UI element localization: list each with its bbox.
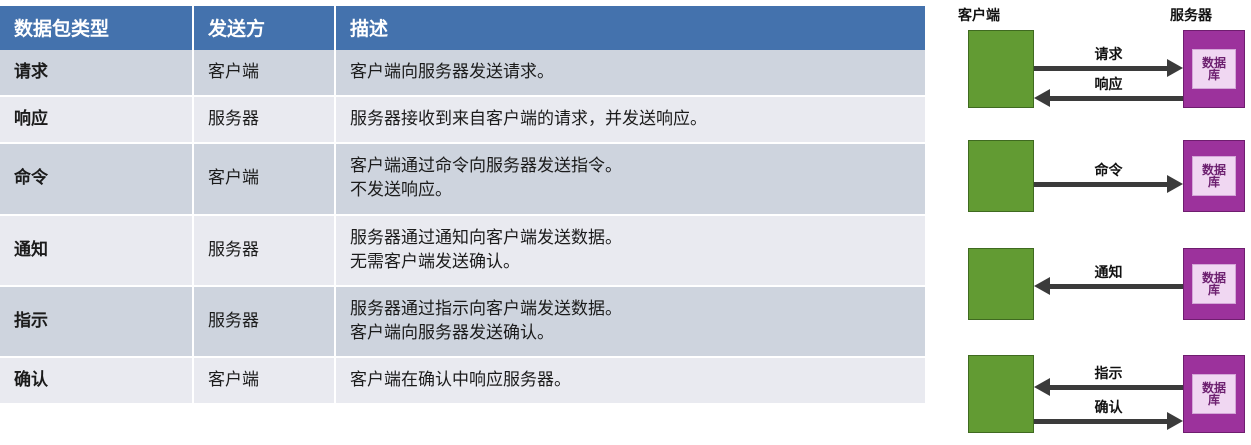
database-chip: 数据库	[1192, 49, 1236, 89]
client-server-diagram: 客户端 服务器 数据库 请求 响应 数据库	[952, 0, 1251, 445]
table-row: 确认 客户端 客户端在确认中响应服务器。	[0, 357, 925, 404]
server-box: 数据库	[1183, 355, 1245, 433]
table-header-row: 数据包类型 发送方 描述	[0, 6, 925, 50]
cell-packet-type: 通知	[0, 215, 193, 286]
table-row: 命令 客户端 客户端通过命令向服务器发送指令。 不发送响应。	[0, 143, 925, 214]
description-line: 不发送响应。	[350, 178, 911, 202]
column-header-sender: 发送方	[193, 6, 335, 50]
description-line: 客户端通过命令向服务器发送指令。	[350, 154, 911, 178]
cell-sender: 客户端	[193, 357, 335, 404]
cell-packet-type: 确认	[0, 357, 193, 404]
server-box: 数据库	[1183, 140, 1245, 212]
table-row: 指示 服务器 服务器通过指示向客户端发送数据。 客户端向服务器发送确认。	[0, 286, 925, 357]
cell-sender: 服务器	[193, 96, 335, 143]
diagram-block-command: 数据库 命令	[952, 140, 1251, 212]
diagram-block-request-response: 数据库 请求 响应	[952, 30, 1251, 108]
database-chip: 数据库	[1192, 374, 1236, 414]
description-line: 客户端向服务器发送确认。	[350, 321, 911, 345]
cell-sender: 服务器	[193, 286, 335, 357]
client-box	[968, 248, 1034, 320]
cell-description: 客户端通过命令向服务器发送指令。 不发送响应。	[335, 143, 925, 214]
page-root: 数据包类型 发送方 描述 请求 客户端 客户端向服务器发送请求。 响应 服务器	[0, 0, 1251, 445]
database-chip: 数据库	[1192, 156, 1236, 196]
diagram-block-indication-confirm: 数据库 指示 确认	[952, 355, 1251, 433]
table-row: 通知 服务器 服务器通过通知向客户端发送数据。 无需客户端发送确认。	[0, 215, 925, 286]
cell-packet-type: 指示	[0, 286, 193, 357]
arrow-label: 通知	[1034, 262, 1183, 282]
diagram-block-notification: 数据库 通知	[952, 248, 1251, 320]
server-box: 数据库	[1183, 30, 1245, 108]
description-line: 无需客户端发送确认。	[350, 250, 911, 274]
table-header: 数据包类型 发送方 描述	[0, 6, 925, 50]
description-line: 服务器通过指示向客户端发送数据。	[350, 297, 911, 321]
table-row: 请求 客户端 客户端向服务器发送请求。	[0, 50, 925, 96]
diagram-client-label: 客户端	[958, 5, 1000, 25]
packet-type-table-container: 数据包类型 发送方 描述 请求 客户端 客户端向服务器发送请求。 响应 服务器	[0, 6, 925, 405]
client-box	[968, 30, 1034, 108]
server-box: 数据库	[1183, 248, 1245, 320]
table-row: 响应 服务器 服务器接收到来自客户端的请求，并发送响应。	[0, 96, 925, 143]
table-body: 请求 客户端 客户端向服务器发送请求。 响应 服务器 服务器接收到来自客户端的请…	[0, 50, 925, 404]
description-line: 服务器通过通知向客户端发送数据。	[350, 226, 911, 250]
arrow-line	[1047, 96, 1183, 101]
cell-description: 服务器通过指示向客户端发送数据。 客户端向服务器发送确认。	[335, 286, 925, 357]
client-box	[968, 355, 1034, 433]
cell-description: 服务器接收到来自客户端的请求，并发送响应。	[335, 96, 925, 143]
cell-packet-type: 响应	[0, 96, 193, 143]
cell-description: 服务器通过通知向客户端发送数据。 无需客户端发送确认。	[335, 215, 925, 286]
database-chip: 数据库	[1192, 264, 1236, 304]
arrow-label: 指示	[1034, 363, 1183, 383]
description-line: 客户端向服务器发送请求。	[350, 60, 911, 84]
arrow-label: 响应	[1034, 74, 1183, 94]
packet-type-table: 数据包类型 发送方 描述 请求 客户端 客户端向服务器发送请求。 响应 服务器	[0, 6, 925, 405]
cell-packet-type: 请求	[0, 50, 193, 96]
arrow-label: 请求	[1034, 44, 1183, 64]
cell-description: 客户端在确认中响应服务器。	[335, 357, 925, 404]
arrow-line	[1047, 284, 1183, 289]
cell-sender: 客户端	[193, 50, 335, 96]
column-header-packet-type: 数据包类型	[0, 6, 193, 50]
column-header-description: 描述	[335, 6, 925, 50]
arrow-line	[1034, 182, 1170, 187]
description-line: 客户端在确认中响应服务器。	[350, 368, 911, 392]
cell-sender: 客户端	[193, 143, 335, 214]
arrow-line	[1034, 419, 1170, 424]
cell-packet-type: 命令	[0, 143, 193, 214]
cell-sender: 服务器	[193, 215, 335, 286]
arrow-label: 确认	[1034, 397, 1183, 417]
arrow-line	[1047, 385, 1183, 390]
arrow-line	[1034, 66, 1170, 71]
description-line: 服务器接收到来自客户端的请求，并发送响应。	[350, 107, 911, 131]
arrow-label: 命令	[1034, 160, 1183, 180]
cell-description: 客户端向服务器发送请求。	[335, 50, 925, 96]
diagram-server-label: 服务器	[1170, 5, 1212, 25]
client-box	[968, 140, 1034, 212]
